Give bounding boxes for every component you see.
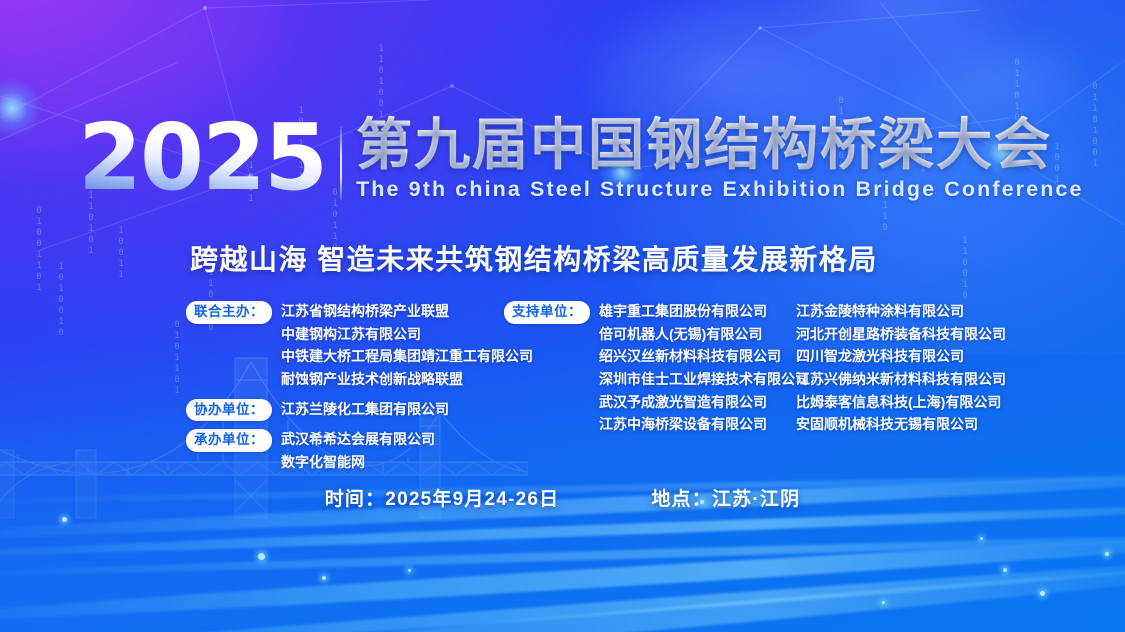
title-block: 第九届中国钢结构桥梁大会 The 9th china Steel Structu… <box>356 116 1083 202</box>
organizer-label-co-organizer: 协办单位： <box>186 399 272 422</box>
supporter-name: 倍可机器人(无锡)有限公司 <box>599 323 809 346</box>
organizer-name: 中铁建大桥工程局集团靖江重工有限公司 <box>281 345 533 368</box>
organizer-name: 耐蚀钢产业技术创新战略联盟 <box>281 368 533 391</box>
organizer-name-list: 江苏兰陵化工集团有限公司 <box>281 398 449 421</box>
organizer-group: 联合主办： 江苏省钢结构桥梁产业联盟 中建钢构江苏有限公司 中铁建大桥工程局集团… <box>186 300 491 391</box>
organizer-name-list: 江苏省钢结构桥梁产业联盟 中建钢构江苏有限公司 中铁建大桥工程局集团靖江重工有限… <box>281 300 533 391</box>
supporter-name: 四川智龙激光科技有限公司 <box>794 345 1006 368</box>
supporter-name-list: 江苏金陵特种涂料有限公司 河北开创星路桥装备科技有限公司 四川智龙激光科技有限公… <box>794 300 1006 436</box>
organizer-group: 承办单位： 武汉希希达会展有限公司 数字化智能网 <box>186 428 491 473</box>
organizer-column-middle: 支持单位： 雄宇重工集团股份有限公司 倍可机器人(无锡)有限公司 绍兴汉丝新材料… <box>504 300 789 442</box>
organizer-name: 数字化智能网 <box>281 451 435 474</box>
poster-content: 2025 第九届中国钢结构桥梁大会 The 9th china Steel St… <box>0 0 1125 632</box>
organizer-label-co-host: 联合主办： <box>186 301 272 324</box>
organizer-name: 武汉希希达会展有限公司 <box>281 428 435 451</box>
supporter-name: 雄宇重工集团股份有限公司 <box>599 300 809 323</box>
event-date: 时间：2025年9月24-26日 <box>325 484 560 511</box>
event-location: 地点：江苏·江阴 <box>651 484 800 511</box>
organizer-group: 支持单位： 雄宇重工集团股份有限公司 倍可机器人(无锡)有限公司 绍兴汉丝新材料… <box>504 300 789 436</box>
organizer-column-right: 江苏金陵特种涂料有限公司 河北开创星路桥装备科技有限公司 四川智龙激光科技有限公… <box>794 300 1034 442</box>
supporter-name: 深圳市佳士工业焊接技术有限公司 <box>599 368 809 391</box>
footer-info: 时间：2025年9月24-26日 地点：江苏·江阴 <box>0 484 1125 511</box>
supporter-name: 安固顺机械科技无锡有限公司 <box>794 413 1006 436</box>
supporter-name: 江苏兴佛纳米新材料科技有限公司 <box>794 368 1006 391</box>
conference-subtitle: 跨越山海 智造未来共筑钢结构桥梁高质量发展新格局 <box>190 238 878 278</box>
title-row: 2025 第九届中国钢结构桥梁大会 The 9th china Steel St… <box>78 116 1084 202</box>
organizer-name: 江苏省钢结构桥梁产业联盟 <box>281 300 533 323</box>
organizer-name: 江苏兰陵化工集团有限公司 <box>281 398 449 421</box>
title-divider <box>340 126 342 200</box>
organizer-name-list: 武汉希希达会展有限公司 数字化智能网 <box>281 428 435 473</box>
conference-title-cn: 第九届中国钢结构桥梁大会 <box>356 116 1083 173</box>
supporter-name: 比姆泰客信息科技(上海)有限公司 <box>794 391 1006 414</box>
organizer-group: 协办单位： 江苏兰陵化工集团有限公司 <box>186 398 491 422</box>
supporter-name: 江苏金陵特种涂料有限公司 <box>794 300 1006 323</box>
organizer-label-host: 承办单位： <box>186 429 272 452</box>
organizer-column-left: 联合主办： 江苏省钢结构桥梁产业联盟 中建钢构江苏有限公司 中铁建大桥工程局集团… <box>186 300 491 480</box>
supporter-name: 江苏中海桥梁设备有限公司 <box>599 413 809 436</box>
supporter-name: 河北开创星路桥装备科技有限公司 <box>794 323 1006 346</box>
supporter-name-list: 雄宇重工集团股份有限公司 倍可机器人(无锡)有限公司 绍兴汉丝新材料科技有限公司… <box>599 300 809 436</box>
conference-poster: 01001101 1010010 0110101 10011 0101101 1… <box>0 0 1125 632</box>
supporter-name: 绍兴汉丝新材料科技有限公司 <box>599 345 809 368</box>
conference-title-en: The 9th china Steel Structure Exhibition… <box>356 177 1083 202</box>
organizer-group: 江苏金陵特种涂料有限公司 河北开创星路桥装备科技有限公司 四川智龙激光科技有限公… <box>794 300 1034 436</box>
year-2025: 2025 <box>78 116 340 201</box>
supporter-name: 武汉予成激光智造有限公司 <box>599 391 809 414</box>
organizer-label-supporter: 支持单位： <box>504 301 590 324</box>
organizer-name: 中建钢构江苏有限公司 <box>281 323 533 346</box>
